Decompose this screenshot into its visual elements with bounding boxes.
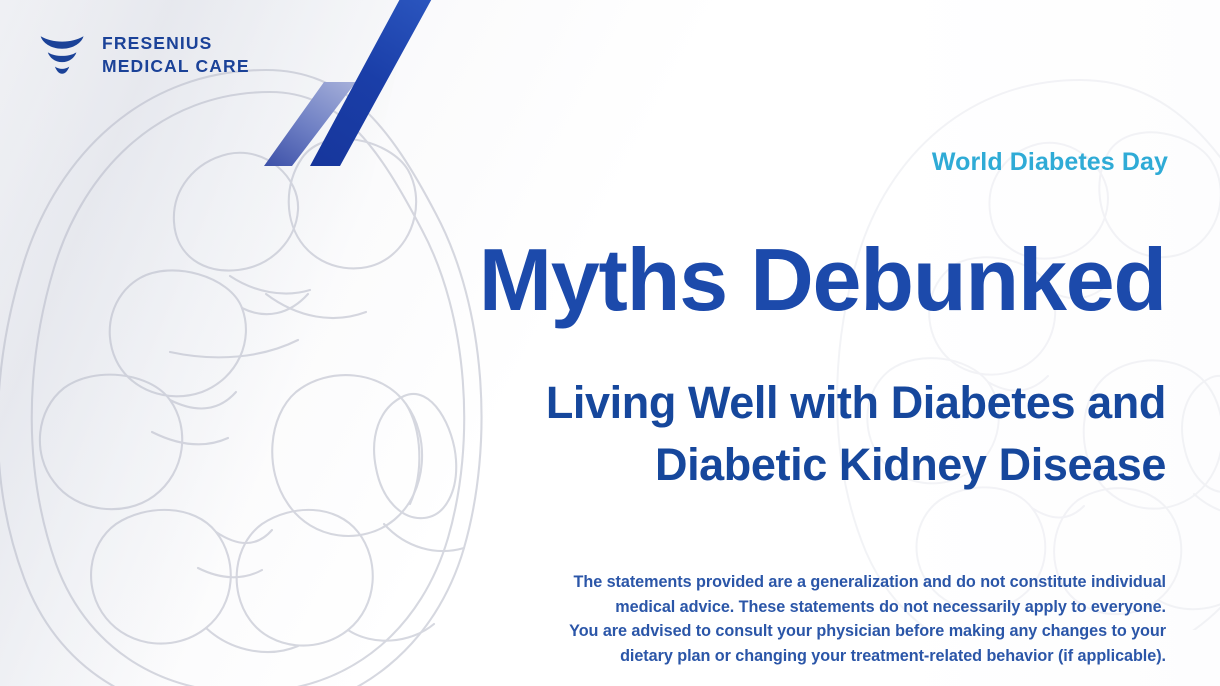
subtitle-line-2: Diabetic Kidney Disease bbox=[346, 434, 1166, 496]
disclaimer-line-4: dietary plan or changing your treatment-… bbox=[466, 644, 1166, 669]
subtitle-line-1: Living Well with Diabetes and bbox=[346, 372, 1166, 434]
page-subtitle: Living Well with Diabetes and Diabetic K… bbox=[346, 372, 1166, 496]
brand-name-line-2: MEDICAL CARE bbox=[102, 55, 250, 78]
disclaimer-line-1: The statements provided are a generaliza… bbox=[466, 570, 1166, 595]
disclaimer-text: The statements provided are a generaliza… bbox=[466, 570, 1166, 669]
eyebrow-world-diabetes-day: World Diabetes Day bbox=[932, 148, 1168, 177]
fresenius-chevron-mark-icon bbox=[38, 30, 88, 80]
brand-logo: FRESENIUS MEDICAL CARE bbox=[38, 30, 250, 80]
disclaimer-line-2: medical advice. These statements do not … bbox=[466, 595, 1166, 620]
page-title: Myths Debunked bbox=[479, 236, 1166, 324]
slide-canvas: FRESENIUS MEDICAL CARE World Diabetes Da… bbox=[0, 0, 1220, 686]
diagonal-slash-icon bbox=[252, 0, 442, 184]
disclaimer-line-3: You are advised to consult your physicia… bbox=[466, 619, 1166, 644]
brand-logo-text: FRESENIUS MEDICAL CARE bbox=[102, 32, 250, 78]
brand-name-line-1: FRESENIUS bbox=[102, 32, 250, 55]
